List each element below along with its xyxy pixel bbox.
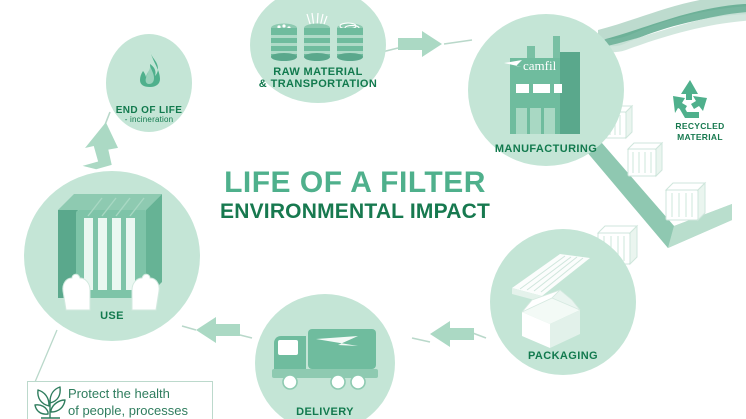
- page-title: LIFE OF A FILTER: [205, 168, 505, 198]
- recycle-icon: [665, 78, 715, 122]
- camfil-logo: camfil: [503, 57, 569, 75]
- callout-text: Protect the health of people, processes: [68, 386, 218, 419]
- svg-text:camfil: camfil: [523, 58, 557, 73]
- leaf-icon: [32, 386, 68, 419]
- factory-icon: [494, 32, 602, 142]
- carton-box-icon: [508, 286, 594, 352]
- page-subtitle: ENVIRONMENTAL IMPACT: [205, 201, 505, 222]
- arrow-use-to-end-of-life: [82, 118, 126, 172]
- infographic-canvas: END OF LIFE - incineration: [0, 0, 746, 419]
- arrow-raw-to-manufacturing: [398, 30, 448, 64]
- badge-label-recycled-material: RECYCLED MATERIAL: [655, 121, 745, 142]
- hands-holding-filter-icon: [50, 192, 174, 318]
- filter-on-conveyor-3: [662, 180, 710, 230]
- barrels-icon: [268, 18, 366, 68]
- arrow-packaging-to-delivery: [430, 320, 480, 354]
- flame-icon: [134, 50, 166, 88]
- delivery-truck-icon: [272, 325, 382, 393]
- filter-on-conveyor-2: [624, 140, 666, 184]
- arrow-delivery-to-use: [196, 316, 246, 350]
